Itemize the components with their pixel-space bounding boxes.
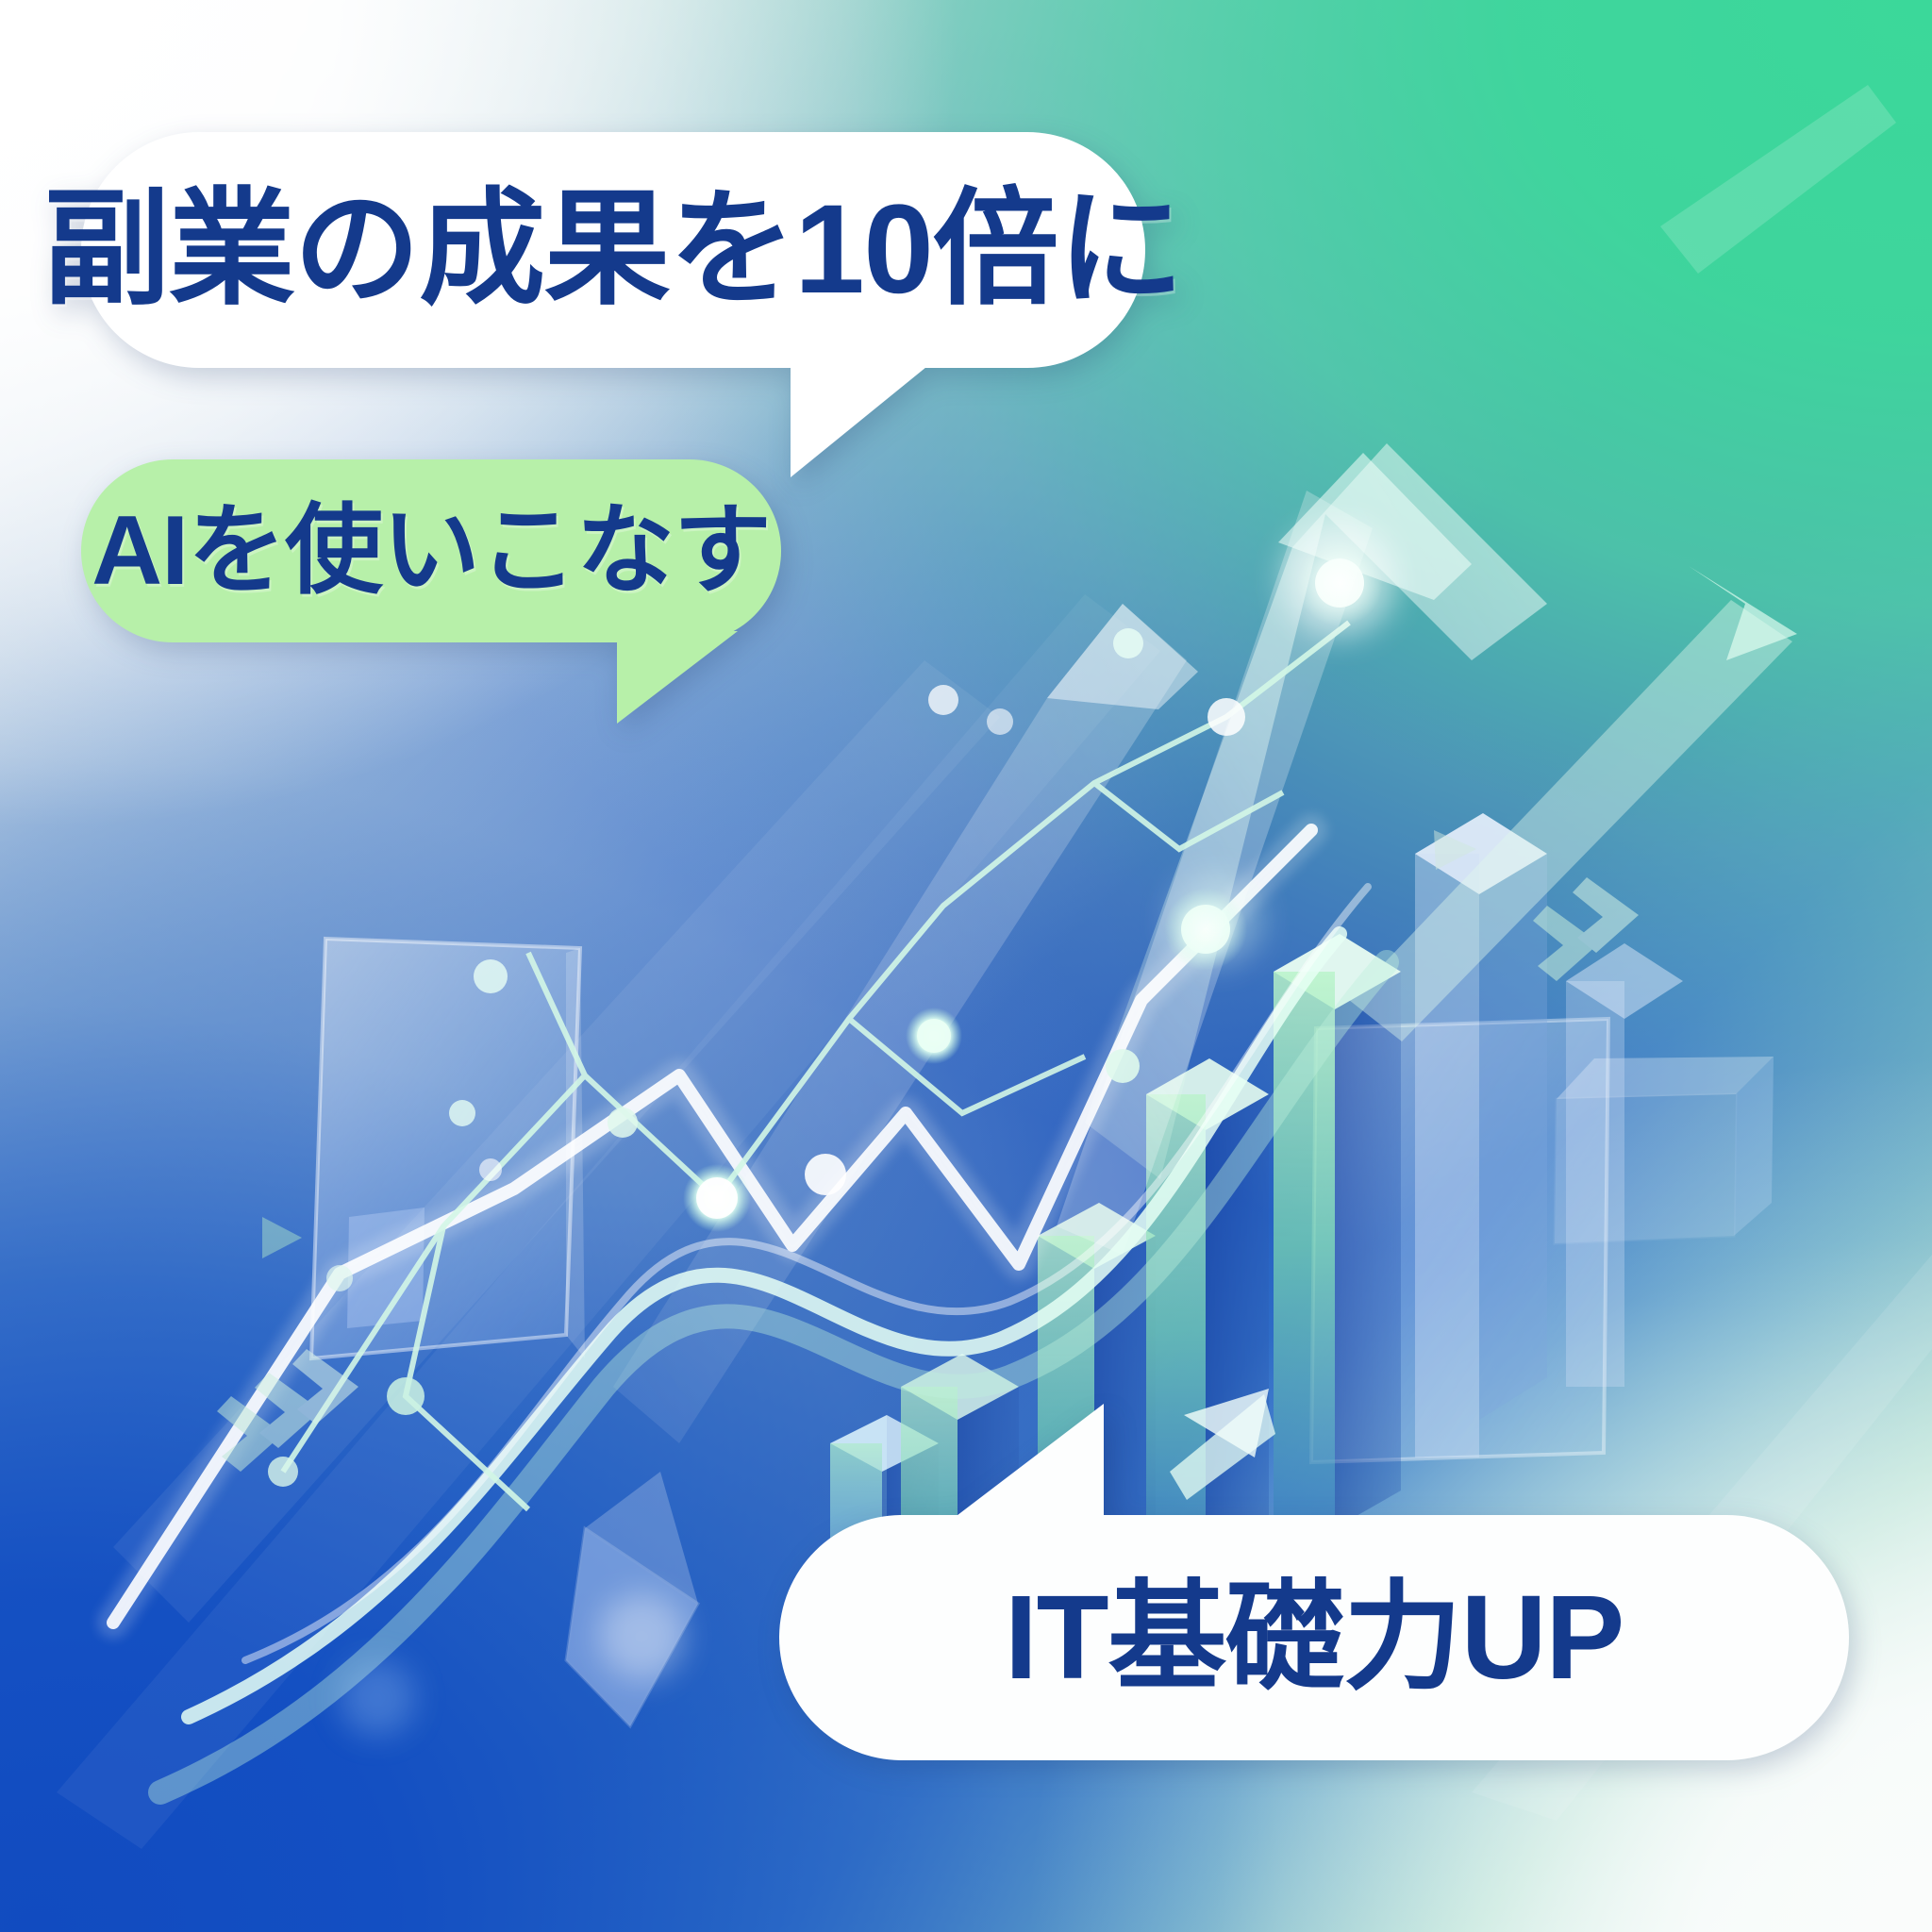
bubble-body-cta: IT基礎力UP — [779, 1515, 1849, 1760]
speech-bubble-subheadline[interactable]: AIを使いこなす — [81, 459, 781, 642]
speech-bubble-cta[interactable]: IT基礎力UP — [779, 1515, 1849, 1760]
bubble-tail-headline — [791, 355, 941, 477]
subheadline-text: AIを使いこなす — [92, 502, 771, 600]
bubble-body-headline: 副業の成果を10倍に — [81, 132, 1145, 368]
poster-canvas: 副業の成果を10倍に AIを使いこなす IT基礎力UP — [0, 0, 1932, 1932]
bubble-body-subheadline: AIを使いこなす — [81, 459, 781, 642]
speech-bubble-headline[interactable]: 副業の成果を10倍に — [81, 132, 1145, 368]
cta-text: IT基礎力UP — [1005, 1578, 1624, 1697]
headline-text: 副業の成果を10倍に — [43, 187, 1183, 313]
bubble-tail-cta — [945, 1404, 1104, 1524]
bubble-tail-subheadline — [617, 631, 738, 724]
